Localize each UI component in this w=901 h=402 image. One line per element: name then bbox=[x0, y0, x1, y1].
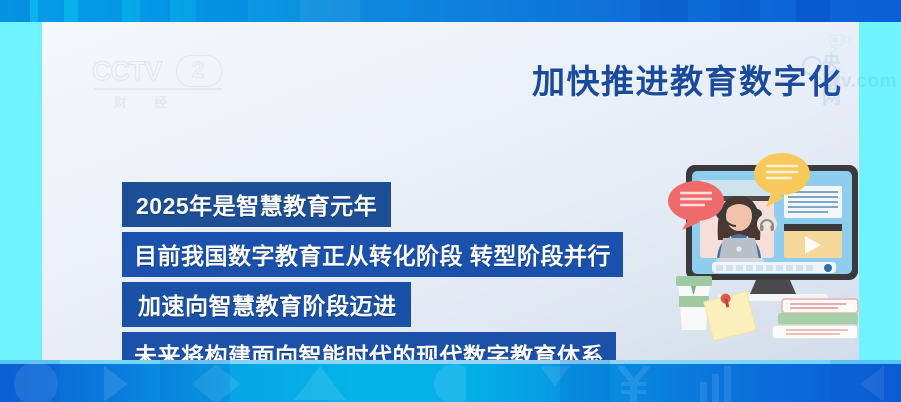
cctv-logo-rule bbox=[94, 88, 222, 90]
cctv-2-logo-icon: CCTV 2 财 经 bbox=[92, 52, 227, 114]
chevron-motif bbox=[104, 366, 128, 402]
lower-third-line: 2025年是智慧教育元年 bbox=[122, 182, 391, 227]
triangle-motif bbox=[294, 366, 346, 400]
online-education-illustration bbox=[660, 148, 898, 352]
yen-symbol-motif bbox=[616, 366, 651, 402]
lower-third-line: 目前我国数字教育正从转化阶段 转型阶段并行 bbox=[122, 232, 623, 277]
video-player-panel bbox=[784, 224, 842, 258]
cctv-logo-sub-right: 经 bbox=[154, 92, 168, 111]
lower-third-text-block: 2025年是智慧教育元年 目前我国数字教育正从转化阶段 转型阶段并行 加速向智慧… bbox=[122, 182, 623, 382]
half-circle-motif bbox=[434, 364, 466, 402]
lower-third-line: 加速向智慧教育阶段迈进 bbox=[122, 282, 411, 327]
page-title: 加快推进教育数字化 bbox=[532, 55, 843, 103]
cctv-logo-number: 2 bbox=[192, 57, 204, 83]
watermark-line-2: cctv.com bbox=[812, 73, 897, 90]
left-cyan-edge bbox=[0, 22, 42, 360]
sticky-note bbox=[703, 288, 756, 340]
cctv-logo-sub-left: 财 bbox=[114, 92, 128, 111]
top-gradient-bar bbox=[0, 0, 901, 22]
cctv-logo-text: CCTV bbox=[92, 56, 162, 87]
monitor-taskbar bbox=[712, 262, 836, 273]
book-stack bbox=[772, 299, 858, 339]
broadcast-corner-icon bbox=[829, 34, 851, 52]
content-stage: CCTV 2 财 经 加快推进教育数字化 央视网 cctv.com 2025年是… bbox=[42, 22, 859, 360]
broadcast-screen: CCTV 2 财 经 加快推进教育数字化 央视网 cctv.com 2025年是… bbox=[0, 0, 901, 402]
decorative-bottom-band bbox=[0, 360, 901, 402]
bar-chart-motif bbox=[700, 366, 731, 402]
